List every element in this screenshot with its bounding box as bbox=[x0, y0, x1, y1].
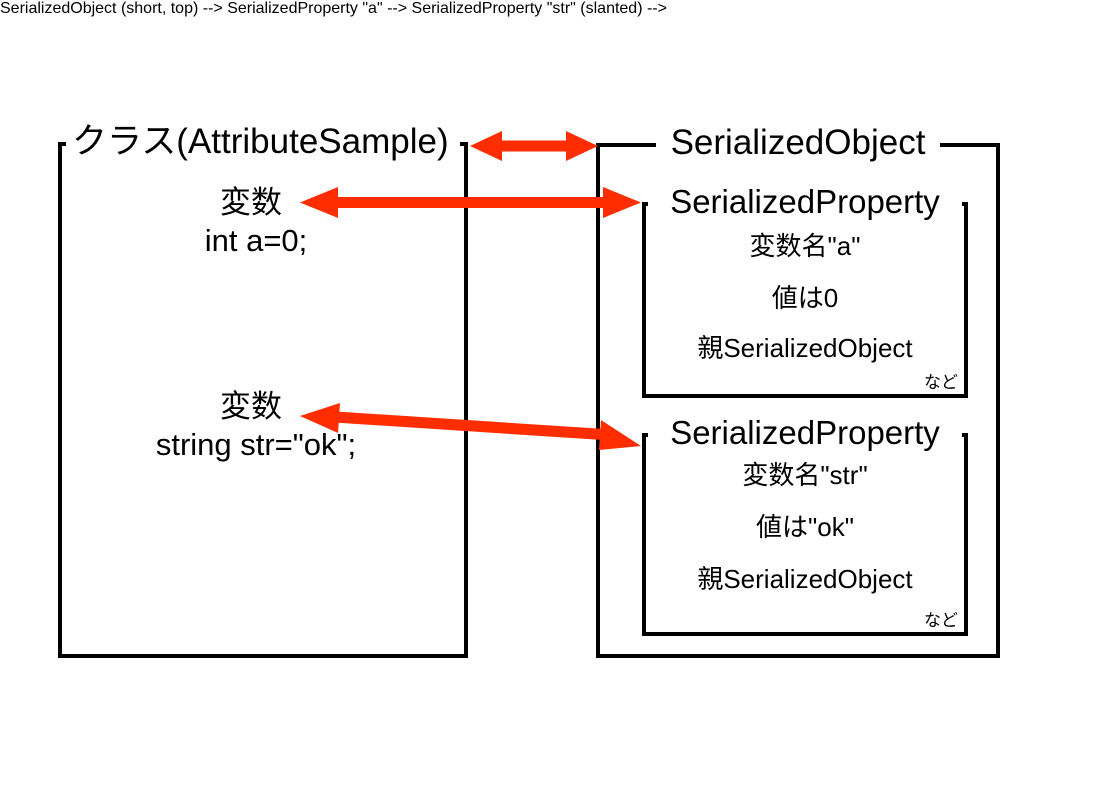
serializedobject-top-left-edge bbox=[596, 143, 656, 147]
connector-field-str-to-property-str bbox=[298, 400, 643, 456]
serializedobject-bottom-edge bbox=[596, 654, 1000, 658]
diagram-canvas: クラス(AttributeSample) 変数 int a=0; 変数 stri… bbox=[0, 0, 1100, 800]
property-str-line-name: 変数名"str" bbox=[642, 461, 968, 490]
groupbox-bottom-edge bbox=[58, 654, 468, 658]
property-a-etc-label: など bbox=[924, 373, 958, 392]
property-str-etc-label: など bbox=[924, 611, 958, 630]
field-str-kind-label: 変数 bbox=[196, 390, 306, 425]
groupbox-top-left-edge bbox=[58, 142, 66, 146]
property-a-line-name: 変数名"a" bbox=[642, 232, 968, 261]
groupbox-left-edge bbox=[58, 142, 62, 658]
serializedproperty-box-str: SerializedProperty 変数名"str" 値は"ok" 親Seri… bbox=[642, 433, 968, 636]
property-str-top-right-edge bbox=[962, 433, 968, 437]
property-str-title: SerializedProperty bbox=[664, 416, 946, 449]
serializedobject-right-edge bbox=[996, 143, 1000, 658]
field-a-declaration: int a=0; bbox=[176, 224, 336, 259]
groupbox-top-right-edge bbox=[460, 142, 468, 146]
connector-class-to-serializedobject bbox=[468, 126, 600, 166]
field-a-kind-label: 変数 bbox=[196, 186, 306, 221]
property-a-top-right-edge bbox=[962, 202, 968, 206]
serializedobject-top-right-edge bbox=[940, 143, 1000, 147]
serializedproperty-box-a: SerializedProperty 変数名"a" 値は0 親Serialize… bbox=[642, 202, 968, 398]
property-str-line-value: 値は"ok" bbox=[642, 513, 968, 542]
property-str-bottom-edge bbox=[642, 632, 968, 636]
property-a-title: SerializedProperty bbox=[664, 185, 946, 218]
serializedobject-title: SerializedObject bbox=[665, 125, 932, 160]
property-a-line-parent: 親SerializedObject bbox=[642, 334, 968, 363]
property-str-line-parent: 親SerializedObject bbox=[642, 565, 968, 594]
property-a-bottom-edge bbox=[642, 394, 968, 398]
class-groupbox-title: クラス(AttributeSample) bbox=[66, 124, 455, 159]
connector-field-a-to-property-a bbox=[298, 183, 643, 223]
property-a-line-value: 値は0 bbox=[642, 284, 968, 313]
